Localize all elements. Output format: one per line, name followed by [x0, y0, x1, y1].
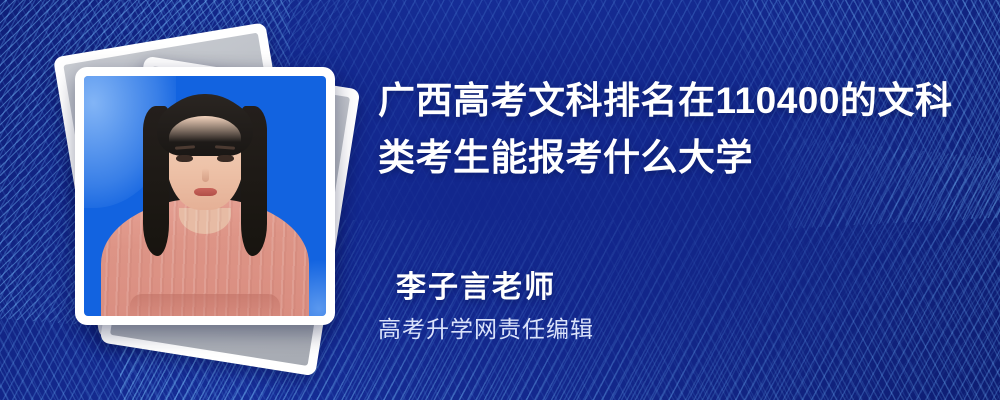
portrait-hair-front	[157, 96, 253, 156]
author-role: 高考升学网责任编辑	[378, 312, 594, 346]
portrait-eye-left	[176, 155, 193, 162]
author-photo	[84, 76, 326, 316]
article-banner: 广西高考文科排名在110400的文科类考生能报考什么大学 李子言老师 高考升学网…	[0, 0, 1000, 400]
portrait-nose	[202, 168, 209, 182]
author-byline: 李子言老师 高考升学网责任编辑	[378, 268, 594, 346]
author-name: 李子言老师	[378, 268, 594, 308]
portrait-dress-waist	[130, 294, 280, 316]
author-photo-card	[75, 67, 335, 325]
portrait-illustration	[84, 76, 326, 316]
portrait-mouth	[194, 188, 217, 196]
banner-text-block: 广西高考文科排名在110400的文科类考生能报考什么大学 李子言老师 高考升学网…	[375, 0, 975, 400]
banner-title: 广西高考文科排名在110400的文科类考生能报考什么大学	[378, 72, 960, 186]
author-photo-stack	[55, 33, 355, 363]
portrait-eye-right	[217, 155, 234, 162]
